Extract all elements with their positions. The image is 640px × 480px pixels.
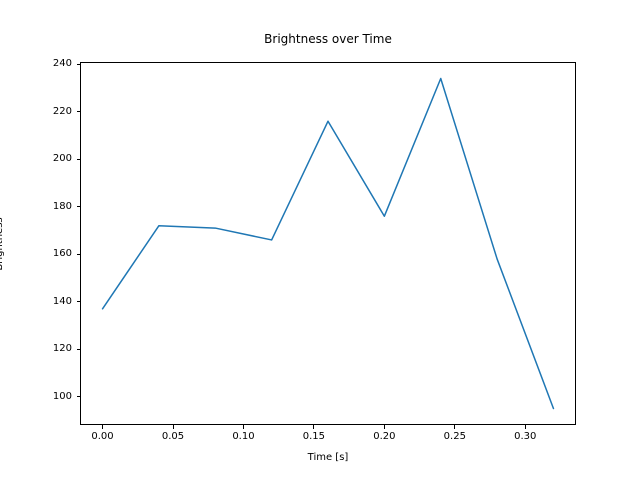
series-line-brightness <box>103 79 554 409</box>
y-tick-mark <box>77 206 81 207</box>
x-tick-label: 0.15 <box>290 431 338 443</box>
y-tick-mark <box>77 301 81 302</box>
x-tick-label: 0.00 <box>79 431 127 443</box>
x-axis-label: Time [s] <box>80 452 576 463</box>
data-line-series <box>80 62 576 425</box>
y-tick-label: 180 <box>36 201 72 213</box>
y-tick-mark <box>77 64 81 65</box>
y-tick-label: 200 <box>36 153 72 165</box>
y-tick-mark <box>77 111 81 112</box>
y-tick-label: 140 <box>36 296 72 308</box>
x-tick-mark <box>384 425 385 429</box>
x-tick-label: 0.20 <box>360 431 408 443</box>
x-tick-label: 0.10 <box>219 431 267 443</box>
x-tick-mark <box>102 425 103 429</box>
x-tick-mark <box>313 425 314 429</box>
y-tick-label: 120 <box>36 343 72 355</box>
figure-canvas: Brightness over Time 1001201401601802002… <box>0 0 640 480</box>
x-tick-mark <box>173 425 174 429</box>
chart-title: Brightness over Time <box>80 32 576 46</box>
plot-area <box>80 62 576 425</box>
y-tick-label: 240 <box>36 58 72 70</box>
y-tick-label: 100 <box>36 391 72 403</box>
x-tick-label: 0.30 <box>501 431 549 443</box>
y-tick-mark <box>77 396 81 397</box>
y-tick-mark <box>77 159 81 160</box>
y-axis-label-text: Brightness <box>0 184 6 304</box>
x-tick-mark <box>243 425 244 429</box>
x-tick-mark <box>525 425 526 429</box>
y-tick-mark <box>77 254 81 255</box>
y-tick-label: 160 <box>36 248 72 260</box>
x-tick-label: 0.05 <box>149 431 197 443</box>
y-tick-mark <box>77 349 81 350</box>
x-tick-label: 0.25 <box>431 431 479 443</box>
y-tick-label: 220 <box>36 106 72 118</box>
x-tick-mark <box>454 425 455 429</box>
